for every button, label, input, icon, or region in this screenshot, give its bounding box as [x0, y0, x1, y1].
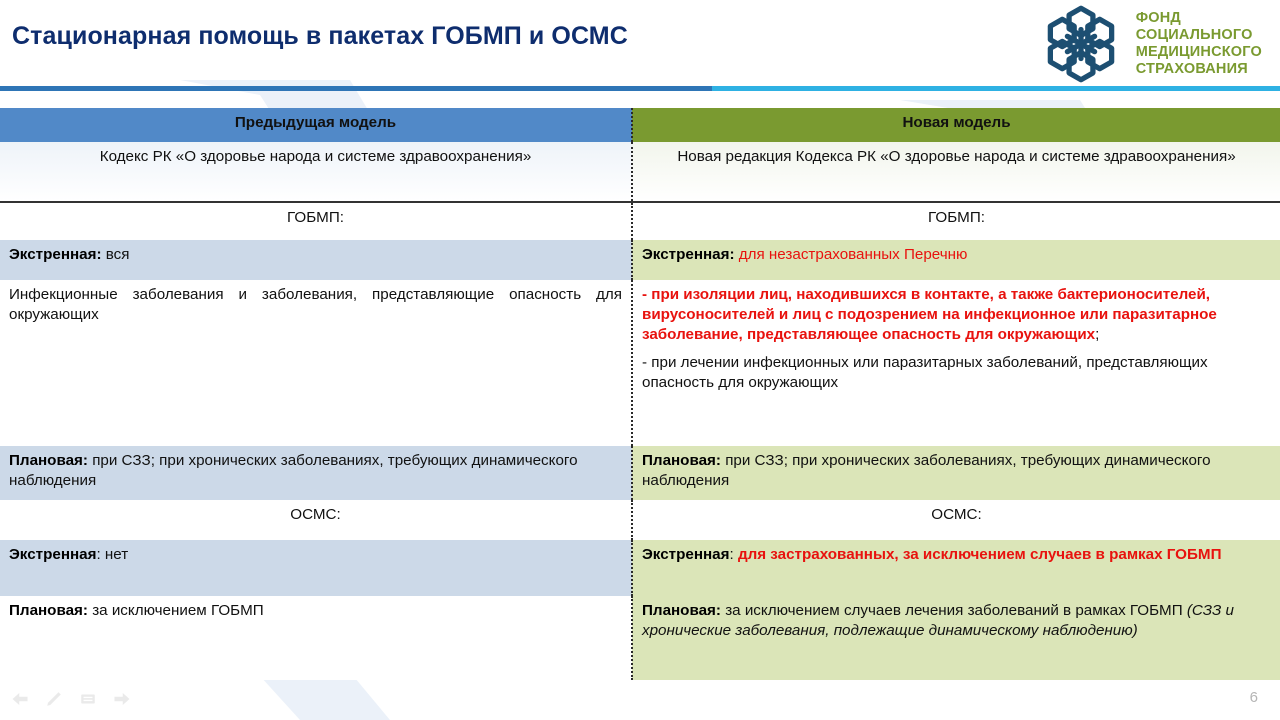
presentation-controls[interactable] — [10, 690, 132, 708]
cell-emergency-gobmp-previous: Экстренная: вся — [0, 240, 632, 280]
column-header-new-model: Новая модель — [632, 108, 1280, 142]
accent-rule-light-segment — [712, 86, 1280, 91]
table-row-emergency-gobmp: Экстренная: вся Экстренная: для незастра… — [0, 240, 1280, 280]
accent-rule-dark-segment — [0, 86, 712, 91]
label-emergency-prev: Экстренная: — [9, 246, 102, 263]
logo-wordmark: ФОНД СОЦИАЛЬНОГО МЕДИЦИНСКОГО СТРАХОВАНИ… — [1136, 10, 1262, 77]
label-emergency-osms-prev: Экстренная — [9, 546, 96, 563]
value-planned-osms-prev: за исключением ГОБМП — [88, 602, 264, 619]
table-row-code: Кодекс РК «О здоровье народа и системе з… — [0, 142, 1280, 202]
table-row-section-osms: ОСМС: ОСМС: — [0, 500, 1280, 540]
presentation-slide: Стационарная помощь в пакетах ГОБМП и ОС… — [0, 0, 1280, 720]
infectious-red-text: - при изоляции лиц, находившихся в конта… — [642, 286, 1217, 343]
section-label-osms-previous: ОСМС: — [0, 500, 632, 540]
cell-planned-gobmp-previous: Плановая: при СЗЗ; при хронических забол… — [0, 446, 632, 500]
slide-number: 6 — [1250, 689, 1258, 706]
value-emergency-osms-prev: : нет — [96, 546, 128, 563]
section-label-gobmp-new: ГОБМП: — [632, 202, 1280, 240]
value-emergency-new: для незастрахованных Перечню — [735, 246, 968, 263]
value-planned-prev: при СЗЗ; при хронических заболеваниях, т… — [9, 452, 578, 489]
table-row-infectious: Инфекционные заболевания и заболевания, … — [0, 280, 1280, 446]
label-emergency-osms-new: Экстренная — [642, 546, 729, 563]
logo-line-2: СОЦИАЛЬНОГО — [1136, 27, 1262, 44]
section-label-osms-new: ОСМС: — [632, 500, 1280, 540]
logo-line-3: МЕДИЦИНСКОГО — [1136, 44, 1262, 61]
previous-slide-icon[interactable] — [10, 690, 30, 708]
pen-icon[interactable] — [44, 690, 64, 708]
cell-emergency-osms-new: Экстренная: для застрахованных, за исклю… — [632, 540, 1280, 596]
value-planned-new: при СЗЗ; при хронических заболеваниях, т… — [642, 452, 1211, 489]
label-emergency-new: Экстренная: — [642, 246, 735, 263]
logo-line-1: ФОНД — [1136, 10, 1262, 27]
menu-icon[interactable] — [78, 690, 98, 708]
value-planned-osms-new: за исключением случаев лечения заболеван… — [721, 602, 1187, 619]
value-emergency-prev: вся — [102, 246, 130, 263]
table-row-emergency-osms: Экстренная: нет Экстренная: для застрахо… — [0, 540, 1280, 596]
next-slide-icon[interactable] — [112, 690, 132, 708]
comparison-table: Предыдущая модель Новая модель Кодекс РК… — [0, 108, 1280, 680]
cell-infectious-previous: Инфекционные заболевания и заболевания, … — [0, 280, 632, 446]
cell-planned-gobmp-new: Плановая: при СЗЗ; при хронических забол… — [632, 446, 1280, 500]
colon-emergency-osms-new: : — [729, 546, 737, 563]
cell-emergency-osms-previous: Экстренная: нет — [0, 540, 632, 596]
infectious-paragraph-1: - при изоляции лиц, находившихся в конта… — [642, 285, 1271, 346]
label-planned-osms-new: Плановая: — [642, 602, 721, 619]
table-row-section-gobmp: ГОБМП: ГОБМП: — [0, 202, 1280, 240]
cell-code-previous: Кодекс РК «О здоровье народа и системе з… — [0, 142, 632, 202]
table-header-row: Предыдущая модель Новая модель — [0, 108, 1280, 142]
organization-logo: ФОНД СОЦИАЛЬНОГО МЕДИЦИНСКОГО СТРАХОВАНИ… — [1038, 4, 1262, 84]
label-planned-prev: Плановая: — [9, 452, 88, 469]
page-title: Стационарная помощь в пакетах ГОБМП и ОС… — [12, 22, 628, 51]
cell-planned-osms-new: Плановая: за исключением случаев лечения… — [632, 596, 1280, 680]
logo-line-4: СТРАХОВАНИЯ — [1136, 61, 1262, 78]
table-row-planned-gobmp: Плановая: при СЗЗ; при хронических забол… — [0, 446, 1280, 500]
fund-hexagon-emblem-icon — [1038, 4, 1124, 84]
infectious-paragraph-2: - при лечении инфекционных или паразитар… — [642, 353, 1271, 393]
section-label-gobmp-previous: ГОБМП: — [0, 202, 632, 240]
cell-emergency-gobmp-new: Экстренная: для незастрахованных Перечню — [632, 240, 1280, 280]
table-row-planned-osms: Плановая: за исключением ГОБМП Плановая:… — [0, 596, 1280, 680]
value-emergency-osms-new: для застрахованных, за исключением случа… — [738, 546, 1222, 563]
column-header-previous-model: Предыдущая модель — [0, 108, 632, 142]
infectious-red-tail: ; — [1095, 326, 1099, 343]
label-planned-osms-prev: Плановая: — [9, 602, 88, 619]
cell-infectious-new: - при изоляции лиц, находившихся в конта… — [632, 280, 1280, 446]
cell-code-new: Новая редакция Кодекса РК «О здоровье на… — [632, 142, 1280, 202]
accent-rule — [0, 86, 1280, 91]
cell-planned-osms-previous: Плановая: за исключением ГОБМП — [0, 596, 632, 680]
label-planned-new: Плановая: — [642, 452, 721, 469]
